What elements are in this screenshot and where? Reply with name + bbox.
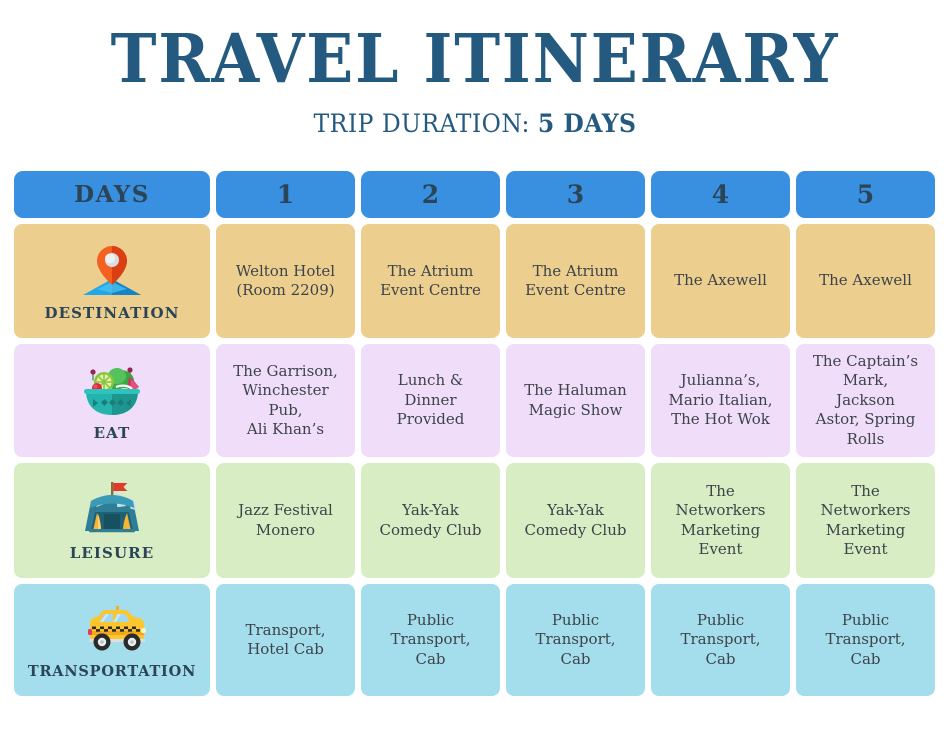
row-label-text: DESTINATION <box>44 303 179 323</box>
trip-duration-label: TRIP DURATION: <box>314 109 530 138</box>
cell-text: The Garrison, Winchester Pub, Ali Khan’s <box>233 362 338 440</box>
day-number: 2 <box>422 185 439 205</box>
header-cell-day-1: 1 <box>216 171 355 218</box>
cell-transportation-day-3: Public Transport, Cab <box>506 584 645 696</box>
cell-text: The Networkers Marketing Event <box>676 482 766 560</box>
cell-text: Welton Hotel (Room 2209) <box>236 262 335 301</box>
cell-text: Lunch & Dinner Provided <box>397 371 465 430</box>
salad-bowl-icon <box>73 359 151 421</box>
cell-eat-day-4: Julianna’s, Mario Italian, The Hot Wok <box>651 344 790 457</box>
cell-destination-day-4: The Axewell <box>651 224 790 338</box>
day-number: 5 <box>857 185 874 205</box>
cell-eat-day-2: Lunch & Dinner Provided <box>361 344 500 457</box>
title-block: TRAVEL ITINERARY TRIP DURATION: 5 DAYS <box>0 0 950 138</box>
cell-text: Julianna’s, Mario Italian, The Hot Wok <box>669 371 773 430</box>
table-row-destination: DESTINATION Welton Hotel (Room 2209) The… <box>14 224 936 344</box>
table-row-eat: EAT The Garrison, Winchester Pub, Ali Kh… <box>14 344 936 463</box>
header-cell-day-5: 5 <box>796 171 935 218</box>
header-cell-days: DAYS <box>14 171 210 218</box>
cell-text: The Axewell <box>819 271 912 291</box>
cell-transportation-day-5: Public Transport, Cab <box>796 584 935 696</box>
trip-duration: TRIP DURATION: 5 DAYS <box>29 110 922 138</box>
cell-eat-day-3: The Haluman Magic Show <box>506 344 645 457</box>
trip-duration-value: 5 DAYS <box>538 109 637 138</box>
header-cell-day-3: 3 <box>506 171 645 218</box>
cell-transportation-day-4: Public Transport, Cab <box>651 584 790 696</box>
cell-text: Transport, Hotel Cab <box>245 621 325 660</box>
cell-text: Jazz Festival Monero <box>238 501 333 540</box>
cell-text: Public Transport, Cab <box>535 611 615 670</box>
table-row-leisure: LEISURE Jazz Festival Monero Yak-Yak Com… <box>14 463 936 584</box>
day-number: 4 <box>712 185 729 205</box>
table-header-row: DAYS 1 2 3 4 5 <box>14 171 936 224</box>
row-label-transportation: TRANSPORTATION <box>14 584 210 696</box>
itinerary-grid: DAYS 1 2 3 4 5 <box>14 171 936 702</box>
row-label-text: LEISURE <box>70 543 155 563</box>
travel-itinerary-page: TRAVEL ITINERARY TRIP DURATION: 5 DAYS D… <box>0 0 950 734</box>
cell-destination-day-1: Welton Hotel (Room 2209) <box>216 224 355 338</box>
taxi-icon <box>73 598 151 660</box>
cell-leisure-day-4: The Networkers Marketing Event <box>651 463 790 578</box>
row-label-leisure: LEISURE <box>14 463 210 578</box>
table-row-transportation: TRANSPORTATION Transport, Hotel Cab Publ… <box>14 584 936 702</box>
cell-transportation-day-2: Public Transport, Cab <box>361 584 500 696</box>
circus-tent-icon <box>73 479 151 541</box>
row-label-eat: EAT <box>14 344 210 457</box>
cell-transportation-day-1: Transport, Hotel Cab <box>216 584 355 696</box>
cell-leisure-day-2: Yak-Yak Comedy Club <box>361 463 500 578</box>
cell-leisure-day-5: The Networkers Marketing Event <box>796 463 935 578</box>
map-pin-icon <box>73 239 151 301</box>
cell-leisure-day-3: Yak-Yak Comedy Club <box>506 463 645 578</box>
cell-text: The Atrium Event Centre <box>380 262 481 301</box>
cell-leisure-day-1: Jazz Festival Monero <box>216 463 355 578</box>
cell-text: The Captain’s Mark, Jackson Astor, Sprin… <box>813 352 918 450</box>
cell-text: Yak-Yak Comedy Club <box>380 501 482 540</box>
row-label-destination: DESTINATION <box>14 224 210 338</box>
cell-destination-day-3: The Atrium Event Centre <box>506 224 645 338</box>
page-title: TRAVEL ITINERARY <box>38 22 912 96</box>
cell-destination-day-2: The Atrium Event Centre <box>361 224 500 338</box>
cell-text: The Networkers Marketing Event <box>821 482 911 560</box>
cell-text: The Atrium Event Centre <box>525 262 626 301</box>
header-cell-day-2: 2 <box>361 171 500 218</box>
cell-eat-day-5: The Captain’s Mark, Jackson Astor, Sprin… <box>796 344 935 457</box>
row-label-text: TRANSPORTATION <box>28 662 196 682</box>
cell-text: The Axewell <box>674 271 767 291</box>
header-days-label: DAYS <box>74 185 150 205</box>
day-number: 1 <box>277 185 294 205</box>
cell-eat-day-1: The Garrison, Winchester Pub, Ali Khan’s <box>216 344 355 457</box>
cell-text: Yak-Yak Comedy Club <box>525 501 627 540</box>
cell-destination-day-5: The Axewell <box>796 224 935 338</box>
cell-text: The Haluman Magic Show <box>524 381 627 420</box>
cell-text: Public Transport, Cab <box>390 611 470 670</box>
cell-text: Public Transport, Cab <box>825 611 905 670</box>
cell-text: Public Transport, Cab <box>680 611 760 670</box>
header-cell-day-4: 4 <box>651 171 790 218</box>
row-label-text: EAT <box>94 423 131 443</box>
day-number: 3 <box>567 185 584 205</box>
